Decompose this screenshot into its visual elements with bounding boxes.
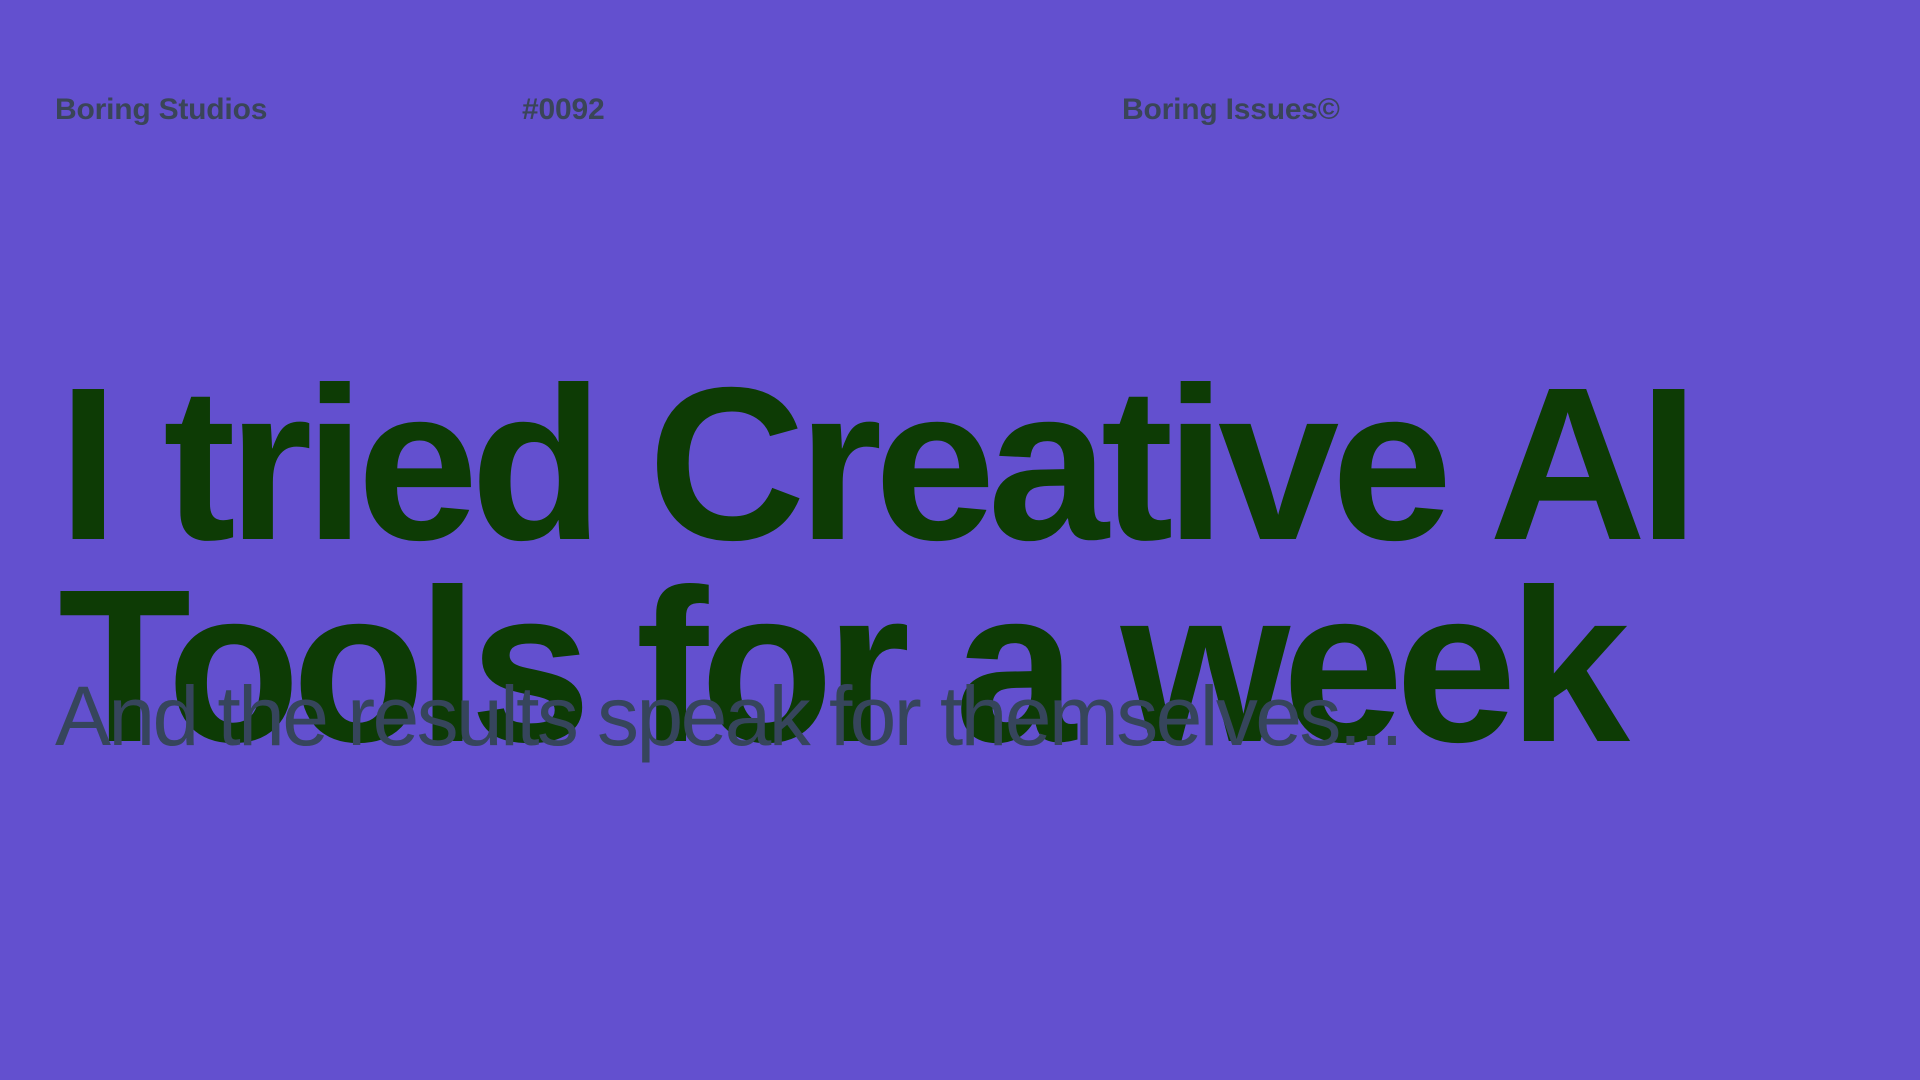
studio-name-label: Boring Studios: [55, 92, 267, 128]
meta-header-row: Boring Studios #0092 Boring Issues©: [55, 92, 1865, 132]
newsletter-cover-slide: Boring Studios #0092 Boring Issues© I tr…: [0, 0, 1920, 1080]
brand-name-label: Boring Issues©: [1122, 92, 1340, 128]
headline-line-1: I tried Creative AI: [58, 364, 1848, 566]
subtitle: And the results speak for themselves...: [55, 672, 1845, 760]
empty-canvas-area: [0, 790, 1920, 1080]
issue-number-label: #0092: [522, 92, 604, 128]
